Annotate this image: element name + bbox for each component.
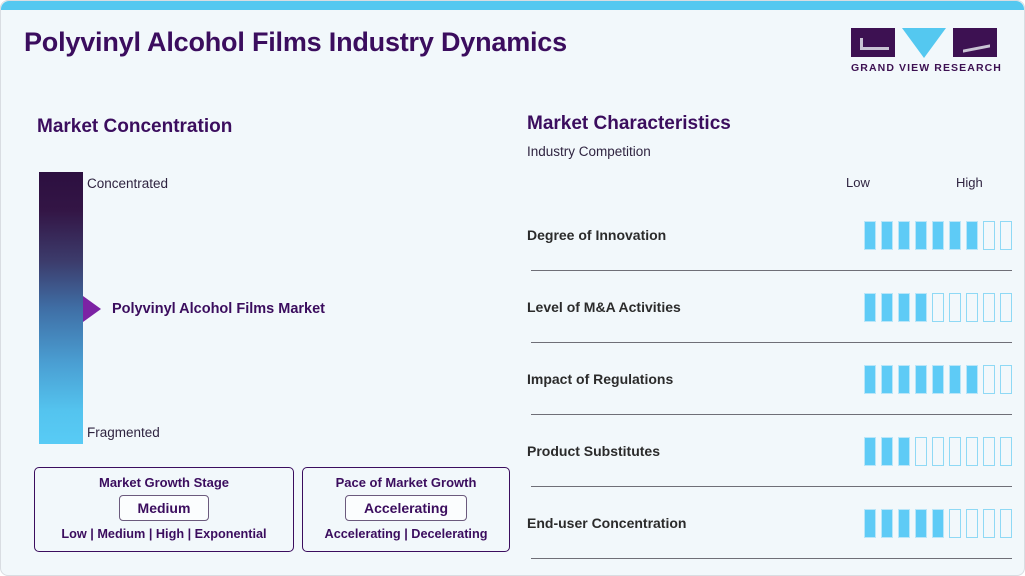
bar-segment-filled bbox=[932, 365, 944, 394]
bar-scale-axis-labels: Low High bbox=[513, 175, 1025, 193]
characteristic-label: Level of M&A Activities bbox=[527, 299, 681, 315]
bar-segment-empty bbox=[966, 437, 978, 466]
market-characteristics-panel: Market Characteristics Industry Competit… bbox=[513, 1, 1025, 576]
bar-segment-empty bbox=[983, 437, 995, 466]
bar-segment-filled bbox=[915, 509, 927, 538]
bar-segment-filled bbox=[898, 437, 910, 466]
pace-of-market-growth-box: Pace of Market Growth Accelerating Accel… bbox=[302, 467, 510, 552]
marker-label: Polyvinyl Alcohol Films Market bbox=[112, 301, 325, 317]
scale-label-fragmented: Fragmented bbox=[87, 425, 160, 440]
characteristic-bar-meter bbox=[864, 437, 1012, 466]
bar-segment-empty bbox=[1000, 437, 1012, 466]
pace-options: Accelerating | Decelerating bbox=[325, 527, 488, 541]
characteristic-bar-meter bbox=[864, 221, 1012, 250]
bar-segment-empty bbox=[983, 365, 995, 394]
bar-segment-filled bbox=[881, 221, 893, 250]
bar-segment-empty bbox=[983, 221, 995, 250]
bar-segment-filled bbox=[949, 221, 961, 250]
bar-segment-empty bbox=[949, 509, 961, 538]
bar-segment-filled bbox=[864, 509, 876, 538]
bar-segment-filled bbox=[898, 293, 910, 322]
bar-segment-filled bbox=[898, 221, 910, 250]
bar-segment-empty bbox=[949, 437, 961, 466]
bar-segment-filled bbox=[915, 293, 927, 322]
marker-arrow-icon bbox=[83, 296, 101, 322]
market-characteristics-subtitle: Industry Competition bbox=[527, 144, 651, 159]
market-concentration-title: Market Concentration bbox=[37, 116, 232, 138]
characteristic-bar-meter bbox=[864, 293, 1012, 322]
bar-segment-empty bbox=[1000, 365, 1012, 394]
characteristic-row: Degree of Innovation bbox=[513, 199, 1025, 271]
characteristic-row: End-user Concentration bbox=[513, 487, 1025, 559]
bar-segment-empty bbox=[1000, 509, 1012, 538]
axis-label-high: High bbox=[956, 175, 983, 190]
bar-segment-filled bbox=[864, 437, 876, 466]
infographic-canvas: Polyvinyl Alcohol Films Industry Dynamic… bbox=[0, 0, 1025, 576]
characteristic-row: Product Substitutes bbox=[513, 415, 1025, 487]
characteristic-bar-meter bbox=[864, 509, 1012, 538]
bar-segment-empty bbox=[1000, 221, 1012, 250]
market-characteristics-title: Market Characteristics bbox=[527, 113, 731, 135]
bar-segment-empty bbox=[932, 437, 944, 466]
characteristic-row: Impact of Regulations bbox=[513, 343, 1025, 415]
characteristic-label: Degree of Innovation bbox=[527, 227, 666, 243]
concentration-scale bbox=[39, 172, 83, 444]
growth-stage-value: Medium bbox=[119, 495, 210, 521]
axis-label-low: Low bbox=[846, 175, 870, 190]
growth-stage-options: Low | Medium | High | Exponential bbox=[61, 527, 266, 541]
bar-segment-empty bbox=[983, 509, 995, 538]
bar-segment-filled bbox=[898, 365, 910, 394]
bar-segment-filled bbox=[881, 365, 893, 394]
pace-value: Accelerating bbox=[345, 495, 467, 521]
bar-segment-filled bbox=[932, 509, 944, 538]
pace-heading: Pace of Market Growth bbox=[336, 475, 477, 490]
market-position-marker: Polyvinyl Alcohol Films Market bbox=[83, 296, 325, 322]
bar-segment-filled bbox=[864, 365, 876, 394]
bar-segment-filled bbox=[881, 293, 893, 322]
bar-segment-filled bbox=[881, 437, 893, 466]
characteristic-label: Impact of Regulations bbox=[527, 371, 673, 387]
bar-segment-filled bbox=[949, 365, 961, 394]
bar-segment-filled bbox=[915, 221, 927, 250]
bar-segment-filled bbox=[966, 365, 978, 394]
growth-stage-heading: Market Growth Stage bbox=[99, 475, 229, 490]
bar-segment-empty bbox=[932, 293, 944, 322]
characteristic-row: Level of M&A Activities bbox=[513, 271, 1025, 343]
characteristic-label: End-user Concentration bbox=[527, 515, 686, 531]
bar-segment-empty bbox=[915, 437, 927, 466]
scale-label-concentrated: Concentrated bbox=[87, 176, 168, 191]
market-concentration-panel: Market Concentration Concentrated Fragme… bbox=[1, 1, 513, 576]
bar-segment-filled bbox=[864, 293, 876, 322]
concentration-gradient-bar bbox=[39, 172, 83, 444]
bar-segment-filled bbox=[898, 509, 910, 538]
bar-segment-empty bbox=[983, 293, 995, 322]
characteristic-label: Product Substitutes bbox=[527, 443, 660, 459]
characteristic-bar-meter bbox=[864, 365, 1012, 394]
bar-segment-empty bbox=[966, 293, 978, 322]
bar-segment-filled bbox=[966, 221, 978, 250]
bar-segment-filled bbox=[915, 365, 927, 394]
bar-segment-filled bbox=[881, 509, 893, 538]
bar-segment-filled bbox=[864, 221, 876, 250]
market-growth-stage-box: Market Growth Stage Medium Low | Medium … bbox=[34, 467, 294, 552]
bar-segment-filled bbox=[932, 221, 944, 250]
bar-segment-empty bbox=[949, 293, 961, 322]
characteristics-rows: Degree of InnovationLevel of M&A Activit… bbox=[513, 199, 1025, 559]
bar-segment-empty bbox=[1000, 293, 1012, 322]
bar-segment-empty bbox=[966, 509, 978, 538]
